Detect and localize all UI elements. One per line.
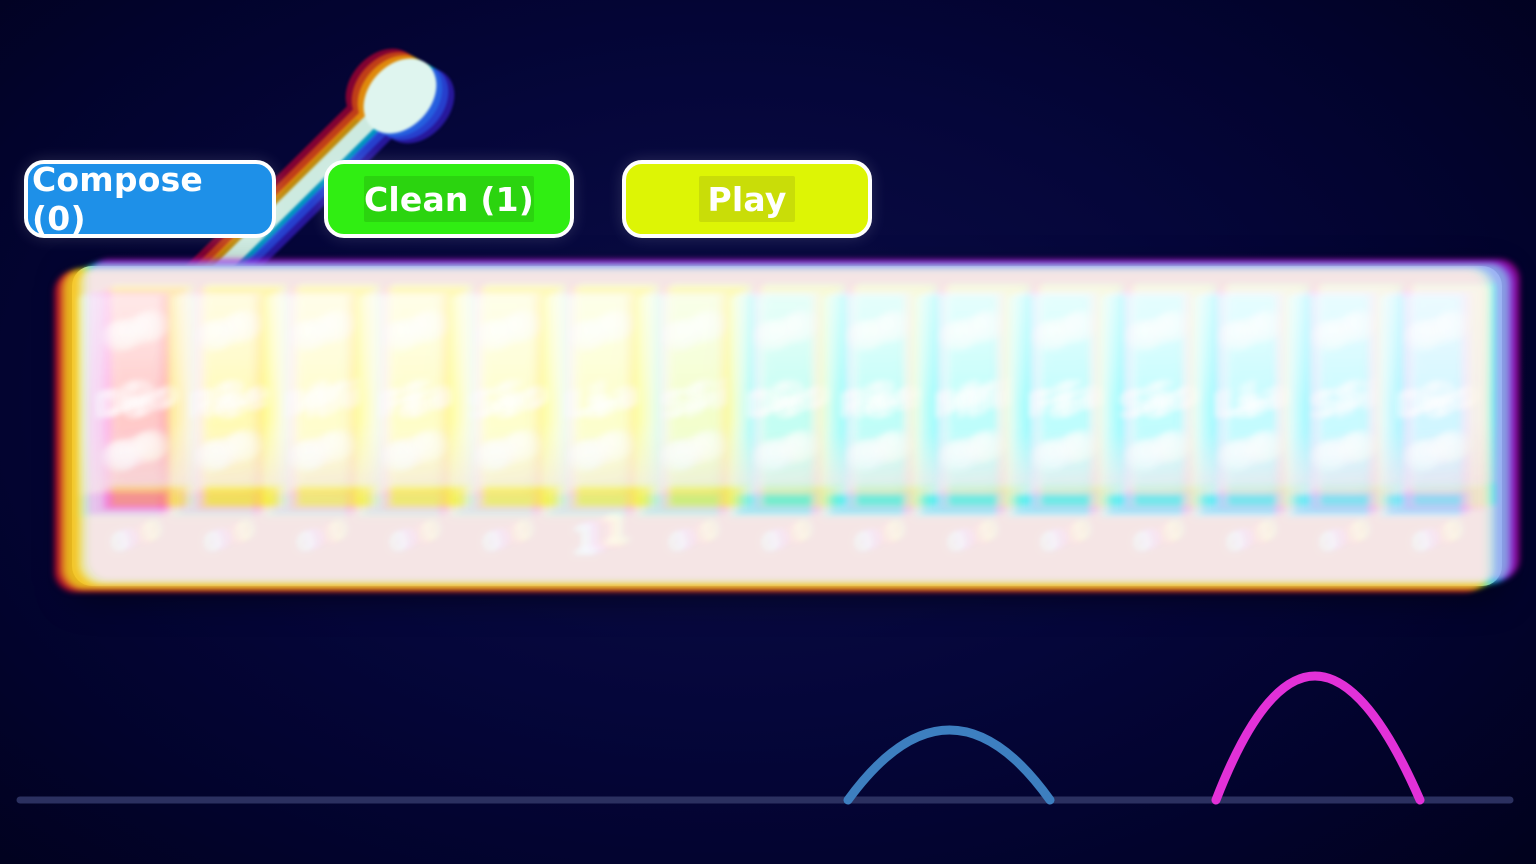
key-dot-top bbox=[416, 309, 450, 339]
xylophone-key[interactable]: Do bbox=[1415, 283, 1496, 505]
key-label: Fa bbox=[1061, 374, 1106, 414]
key-dot-bottom bbox=[1067, 429, 1101, 459]
key-hit-counter: 0 bbox=[486, 515, 567, 544]
key-dot-bottom bbox=[602, 429, 636, 459]
key-dot-top bbox=[1253, 309, 1287, 339]
key-dot-bottom bbox=[509, 429, 543, 459]
key-label: Fa bbox=[411, 374, 456, 414]
key-dot-top bbox=[788, 309, 822, 339]
key-label: Re bbox=[873, 374, 924, 414]
compose-button-label: Compose (0) bbox=[28, 160, 272, 238]
key-label: So bbox=[1152, 374, 1201, 414]
xylophone-key[interactable]: Re bbox=[858, 283, 939, 505]
key-label: Do bbox=[1429, 374, 1482, 414]
xylophone-key[interactable]: Si bbox=[1322, 283, 1403, 505]
key-hit-counter: 0 bbox=[672, 515, 753, 544]
key-hit-counter: 0 bbox=[1229, 515, 1310, 544]
xylophone-key[interactable]: La bbox=[579, 283, 660, 505]
key-hit-counter: 0 bbox=[1415, 515, 1496, 544]
key-dot-bottom bbox=[1346, 429, 1380, 459]
key-label: La bbox=[1247, 374, 1293, 414]
key-dot-bottom bbox=[881, 429, 915, 459]
xylophone-key[interactable]: La bbox=[1229, 283, 1310, 505]
clean-button[interactable]: Clean (1) bbox=[324, 160, 574, 238]
key-dot-bottom bbox=[695, 429, 729, 459]
key-dot-bottom bbox=[974, 429, 1008, 459]
key-label: Re bbox=[222, 374, 273, 414]
xylophone-key[interactable]: Si bbox=[672, 283, 753, 505]
key-dot-top bbox=[230, 309, 264, 339]
key-dot-top bbox=[1067, 309, 1101, 339]
key-dot-top bbox=[1439, 309, 1473, 339]
xylophone-key[interactable]: Do bbox=[114, 283, 195, 505]
key-hit-counter: 0 bbox=[765, 515, 846, 544]
key-label: Si bbox=[693, 374, 730, 414]
play-button[interactable]: Play bbox=[622, 160, 872, 238]
key-dot-bottom bbox=[416, 429, 450, 459]
key-hit-counter: 0 bbox=[393, 515, 474, 544]
key-hit-counter: 0 bbox=[950, 515, 1031, 544]
key-hit-counter: 0 bbox=[114, 515, 195, 544]
key-hit-counter: 0 bbox=[1043, 515, 1124, 544]
xylophone-key[interactable]: So bbox=[1136, 283, 1217, 505]
key-dot-top bbox=[509, 309, 543, 339]
key-dot-bottom bbox=[1439, 429, 1473, 459]
xylophone-key[interactable]: Re bbox=[207, 283, 288, 505]
key-dot-bottom bbox=[323, 429, 357, 459]
key-dot-bottom bbox=[1253, 429, 1287, 459]
key-hit-counter: 0 bbox=[300, 515, 381, 544]
key-dot-top bbox=[602, 309, 636, 339]
key-hit-counter: 1 bbox=[579, 506, 660, 552]
key-dot-top bbox=[137, 309, 171, 339]
key-dot-bottom bbox=[137, 429, 171, 459]
clean-button-label: Clean (1) bbox=[360, 180, 538, 219]
key-dot-bottom bbox=[788, 429, 822, 459]
xylophone-key[interactable]: Do bbox=[765, 283, 846, 505]
key-label: Si bbox=[1344, 374, 1381, 414]
key-dot-top bbox=[1160, 309, 1194, 339]
key-hit-counter: 0 bbox=[1322, 515, 1403, 544]
xylophone-key[interactable]: Fa bbox=[1043, 283, 1124, 505]
toolbar: Compose (0) Clean (1) Play bbox=[24, 160, 872, 238]
key-hit-counter: 0 bbox=[207, 515, 288, 544]
key-dot-bottom bbox=[230, 429, 264, 459]
key-hit-counter: 0 bbox=[858, 515, 939, 544]
key-dot-top bbox=[974, 309, 1008, 339]
key-hit-counter: 0 bbox=[1136, 515, 1217, 544]
instrument-chromatic-stack: DoReMiFaSoLaSiDoReMiFaSoLaSiDo0000010000… bbox=[0, 0, 1536, 864]
key-label: La bbox=[596, 374, 642, 414]
key-label: Do bbox=[128, 374, 181, 414]
chromatic-ghost-layer: DoReMiFaSoLaSiDoReMiFaSoLaSiDo0000010000… bbox=[0, 0, 1536, 864]
compose-button[interactable]: Compose (0) bbox=[24, 160, 276, 238]
xylophone-key[interactable]: Mi bbox=[950, 283, 1031, 505]
key-dot-top bbox=[1346, 309, 1380, 339]
xylophone-key[interactable]: Fa bbox=[393, 283, 474, 505]
key-dot-bottom bbox=[1160, 429, 1194, 459]
play-button-label: Play bbox=[703, 180, 790, 219]
xylophone-key[interactable]: So bbox=[486, 283, 567, 505]
xylophone-key[interactable]: Mi bbox=[300, 283, 381, 505]
key-dot-top bbox=[695, 309, 729, 339]
key-label: So bbox=[502, 374, 551, 414]
key-label: Mi bbox=[967, 374, 1014, 414]
key-label: Mi bbox=[317, 374, 364, 414]
key-label: Do bbox=[778, 374, 831, 414]
key-dot-top bbox=[323, 309, 357, 339]
key-dot-top bbox=[881, 309, 915, 339]
